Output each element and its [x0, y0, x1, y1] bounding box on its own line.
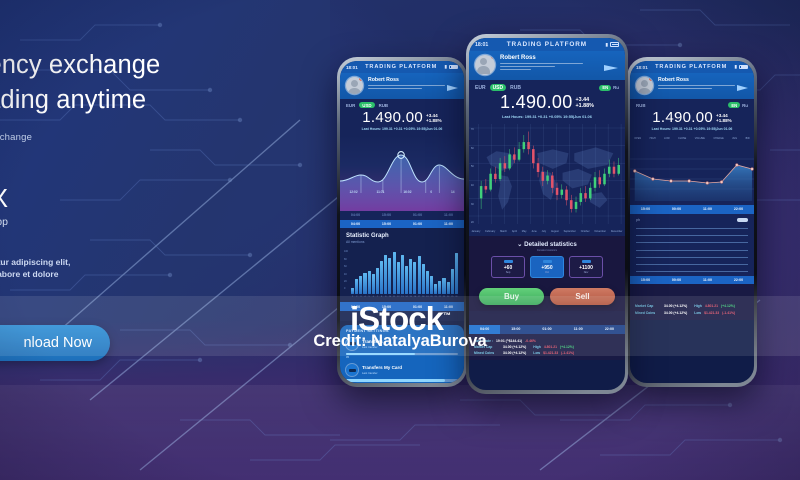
battery-icon [739, 65, 748, 70]
buy-button[interactable]: Buy [479, 288, 544, 305]
area-chart-top-label: HIGH [650, 137, 656, 140]
price-delta: +3.44 +1.88% [426, 113, 442, 123]
candle-x-label: December [611, 230, 623, 233]
detailed-statistics-cards: +60 Sep +950 Oct +1100 Nov [475, 256, 619, 279]
bar [434, 284, 437, 294]
panel-divider [636, 257, 748, 258]
area-chart-top-label: CLOSE [678, 137, 686, 140]
language-label: Ru [742, 103, 748, 108]
bar [418, 256, 421, 295]
bar-label: 8 [380, 296, 383, 298]
avatar[interactable] [636, 77, 653, 94]
row-value: 34.00 (+4.12%) [503, 345, 526, 349]
area-chart-top-label: LOW [664, 137, 669, 140]
app-title: TRADING PLATFORM [655, 64, 727, 70]
row-change: (+4.12%) [721, 304, 735, 308]
delta-percent: +1.88% [716, 118, 732, 123]
candle-x-label: July [542, 230, 546, 233]
card-icon [346, 338, 358, 350]
profile-skeleton-bars [658, 85, 748, 89]
user-name: Robert Ross [658, 77, 748, 83]
area-chart-top-label: VOLUME [695, 137, 705, 140]
row-key: Mined Coins [474, 351, 500, 355]
time-tab[interactable]: 11:00 [692, 276, 723, 284]
bar [438, 281, 441, 295]
language-pill[interactable]: EN [599, 85, 611, 91]
bar [359, 276, 362, 294]
user-name: Robert Ross [500, 55, 619, 61]
payment-row-transfers[interactable]: Transfers Last transfer [346, 338, 458, 350]
phone-center-screen[interactable]: 18:01 TRADING PLATFORM ▮ Robert Ross [469, 38, 625, 390]
bar-chart-x-axis: 1234567891011121314151617181920212223242… [351, 296, 458, 298]
currency-rub[interactable]: RUB [510, 85, 521, 91]
promo-lorem-line1: , consectetur adipiscing elit, [0, 256, 256, 268]
bar-label: 24 [447, 296, 450, 298]
bar-label: 18 [422, 296, 425, 298]
chevron-down-icon: ⌄ [517, 241, 522, 248]
bar-label: 5 [368, 296, 371, 298]
time-tab[interactable]: 11:00 [692, 205, 723, 213]
time-tab[interactable]: 04:00 [340, 302, 371, 310]
bar-label: 6 [372, 296, 375, 298]
wave-tick-labels: 12:02 11:71 16:02 0 14 [340, 190, 464, 194]
area-chart-top-labels: OPENHIGHLOWCLOSEVOLUMECHANGEAVGBID [630, 137, 754, 140]
currency-eur[interactable]: EUR [346, 103, 355, 108]
wave-tick: 14 [451, 190, 455, 194]
row-key2: Low [694, 311, 701, 315]
promo-copy: urrency exchange , trading anytime ons f… [0, 50, 256, 280]
time-tab[interactable]: 15:00 [630, 276, 661, 284]
promo-uiux-title: I/UX [0, 183, 256, 214]
candle-x-label: April [512, 230, 517, 233]
row-value2: 4.801.21 [544, 345, 557, 349]
candle-x-label: June [531, 230, 536, 233]
table-row: Market Cap 34.00 (+4.12%) High 4.801.21 … [635, 304, 749, 308]
table-row: Mined Coins 34.00 (+4.12%) Low $1.421.33… [474, 351, 620, 355]
card-icon [346, 364, 358, 376]
battery-icon [610, 42, 619, 47]
notification-dot-icon [649, 77, 653, 81]
status-bar: 18:01 TRADING PLATFORM ▮ [469, 38, 625, 51]
last-hours-text: Last Hours: 199.31 +0.31 +0.05% 19:55|Ju… [475, 114, 619, 119]
phone-right-screen[interactable]: 18:01 TRADING PLATFORM ▮ Robert Ross [630, 61, 754, 383]
notification-dot-icon [491, 55, 495, 59]
bar [376, 268, 379, 295]
stat-card-chip-icon [504, 260, 513, 263]
poster-canvas: urrency exchange , trading anytime ons f… [0, 0, 800, 480]
wave-tick: 0 [430, 190, 432, 194]
bar-label: 25 [451, 296, 454, 298]
currency-usd[interactable]: USD [490, 84, 507, 91]
bar [430, 276, 433, 294]
candle-x-label: May [522, 230, 527, 233]
row-value: 34.00 (+4.12%) [664, 304, 687, 308]
stats-table: Market Cap 34.00 (+4.12%) High 4.801.21 … [630, 284, 754, 319]
time-tab[interactable]: 01:00 [402, 220, 433, 228]
last-hours-text: Last Hours: 199.31 +0.31 +0.05% 19:55|Ju… [346, 127, 458, 131]
bar-label: 16 [413, 296, 416, 298]
user-name: Robert Ross [368, 77, 458, 83]
time-label: 11:00 [433, 211, 464, 219]
stat-card-chip-icon [582, 260, 591, 263]
bar-label: 12 [397, 296, 400, 298]
bar-label: 13 [401, 296, 404, 298]
time-tab[interactable]: 11:00 [563, 325, 594, 333]
wave-tick: 11:71 [376, 190, 384, 194]
time-tab[interactable]: 01:00 [531, 325, 562, 333]
stat-card-sep[interactable]: +60 Sep [491, 256, 525, 279]
promo-subline: ons for exchange [0, 132, 256, 143]
bar-chart-bars [351, 248, 458, 294]
bar-label: 17 [418, 296, 421, 298]
payment-sublabel: Last transfer [362, 345, 458, 349]
payment-label: Transfers [362, 339, 458, 344]
profile-header[interactable]: Robert Ross [469, 51, 625, 80]
bar-chart-y-axis: 100806040200 [344, 250, 348, 290]
payment-settings-title: PAYMENT SETTINGS [346, 329, 458, 333]
bar-label: 11 [393, 296, 396, 298]
payment-settings-panel: PAYMENT SETTINGS Transfers Last transfer… [340, 325, 464, 383]
status-bar: 18:01 TRADING PLATFORM ▮ [630, 61, 754, 73]
time-label: 04:00 [340, 211, 371, 219]
detailed-statistics-title: ⌄ Detailed statistics [475, 241, 619, 248]
candlestick-svg [469, 124, 625, 236]
row-value2: 4.801.21 [705, 304, 718, 308]
bar [363, 273, 366, 295]
wave-tick: 16:02 [403, 190, 411, 194]
trade-actions: Buy Sell [469, 284, 625, 311]
promo-headline: urrency exchange , trading anytime [0, 50, 256, 116]
time-strip[interactable]: 04:00 15:00 01:00 11:00 22:00 [469, 325, 625, 333]
bar [380, 261, 383, 294]
status-time: 18:01 [475, 42, 488, 48]
signal-icon: ▮ [444, 64, 447, 70]
candle-y-label: 20 [471, 221, 474, 224]
signal-icon: ▮ [605, 42, 608, 48]
wave-chart[interactable]: 12:02 11:71 16:02 0 14 [340, 135, 464, 211]
currency-selector[interactable]: EUR USD RUB [340, 99, 464, 108]
candle-y-label: 70 [471, 128, 474, 131]
promo-headline-line2: , trading anytime [0, 85, 256, 116]
row-value: 19:01 (^$144.41) [496, 339, 522, 343]
candle-x-label: September [564, 230, 576, 233]
candle-x-label: March [500, 230, 507, 233]
time-tab[interactable]: 22:00 [723, 205, 754, 213]
detailed-title-text: Detailed statistics [524, 241, 577, 248]
row-key: Last Trade : [474, 339, 493, 343]
area-chart-svg [630, 135, 754, 205]
panel-divider [636, 264, 748, 265]
time-tab[interactable]: 00:00 [661, 276, 692, 284]
price-panel: 1.490.00 +3.44 +1.88% Last Hours: 199.31… [469, 91, 625, 124]
time-strip[interactable]: 15:00 00:00 11:00 22:00 [630, 205, 754, 213]
bar [409, 259, 412, 295]
row-change: -0.46% [525, 339, 536, 343]
graph-panel-label: ph [636, 218, 640, 222]
send-plane-icon[interactable] [604, 65, 618, 71]
app-title: TRADING PLATFORM [507, 41, 587, 48]
promo-lorem: , consectetur adipiscing elit, didunt ut… [0, 256, 256, 280]
bar-label: 15 [409, 296, 412, 298]
time-label: 15:00 [371, 211, 402, 219]
row-change: (-1.41%) [722, 311, 735, 315]
price-value: 1.490.00 [362, 109, 423, 126]
stat-card-value: +60 [494, 265, 522, 271]
stat-card-month: Nov [572, 271, 600, 274]
profile-skeleton-bars [500, 63, 619, 70]
bar [442, 278, 445, 295]
send-plane-icon[interactable] [447, 85, 458, 91]
area-chart-top-label: CHANGE [713, 137, 723, 140]
phone-left-screen[interactable]: 18:01 TRADING PLATFORM ▮ Robert Ross [340, 61, 464, 383]
graph-panel: ph [630, 214, 754, 276]
bar [388, 258, 391, 295]
panel-divider [636, 271, 748, 272]
bar-label: 1 [351, 296, 354, 298]
stat-card-value: +950 [533, 265, 561, 271]
panel-divider [636, 235, 748, 236]
stat-card-chip-icon [543, 260, 552, 263]
currency-selector[interactable]: EUR USD RUB EN Ru [469, 80, 625, 91]
status-icons: ▮ [605, 42, 619, 48]
area-chart-top-label: AVG [732, 137, 737, 140]
bar [451, 269, 454, 295]
row-key: Market Cap [635, 304, 661, 308]
candle-y-label: 50 [471, 165, 474, 168]
bar [393, 252, 396, 294]
bar-label: 22 [438, 296, 441, 298]
area-chart-top-label: BID [746, 137, 750, 140]
row-value2: $1.421.33 [704, 311, 719, 315]
time-tab[interactable]: 15:00 [630, 205, 661, 213]
bar [413, 262, 416, 294]
row-change: (+4.12%) [560, 345, 574, 349]
time-tab[interactable]: 04:00 [469, 325, 500, 333]
panel-divider [636, 250, 748, 251]
time-tab[interactable]: 01:00 [402, 302, 433, 310]
bar-label: 4 [363, 296, 366, 298]
area-chart[interactable]: OPENHIGHLOWCLOSEVOLUMECHANGEAVGBID [630, 135, 754, 205]
bar-label: 21 [434, 296, 437, 298]
payment-row-transfers-my-card[interactable]: Transfers My Card Last transfer [346, 364, 458, 376]
bar-label: 14 [405, 296, 408, 298]
currency-selector[interactable]: RUB EN Ru [630, 99, 754, 108]
stat-card-value: +1100 [572, 265, 600, 271]
status-icons: ▮ [444, 64, 458, 70]
table-row: Market Cap 34.00 (+4.12%) High 4.801.21 … [474, 345, 620, 349]
bar [401, 255, 404, 295]
phone-left: 18:01 TRADING PLATFORM ▮ Robert Ross [337, 57, 467, 387]
currency-eur[interactable]: EUR [475, 85, 486, 91]
status-time: 18:01 [346, 65, 358, 70]
time-strip-lower[interactable]: 04:00 15:00 01:00 11:00 [340, 302, 464, 310]
promo-uiux-subtitle: Mobile App [0, 216, 256, 228]
profile-header[interactable]: Robert Ross [340, 73, 464, 99]
avatar[interactable] [475, 55, 495, 75]
row-change: (-1.41%) [561, 351, 574, 355]
bar [355, 279, 358, 295]
send-plane-icon[interactable] [737, 85, 748, 91]
candle-x-label: February [485, 230, 495, 233]
payment-slider-value: 45 [346, 356, 458, 359]
bar-label: 2 [355, 296, 358, 298]
bar [384, 255, 387, 295]
row-key: Market Cap [474, 345, 500, 349]
bar-label: 20 [430, 296, 433, 298]
panel-divider [636, 242, 748, 243]
area-chart-top-label: OPEN [634, 137, 641, 140]
delta-percent: +1.88% [426, 118, 442, 123]
bar [368, 271, 371, 295]
time-tab[interactable]: 15:00 [371, 220, 402, 228]
stat-card-month: Sep [494, 271, 522, 274]
phone-center: 18:01 TRADING PLATFORM ▮ Robert Ross [466, 34, 628, 394]
payment-label: Transfers My Card [362, 365, 458, 370]
bar [422, 264, 425, 294]
row-key2: Low [533, 351, 540, 355]
currency-rub[interactable]: RUB [636, 103, 646, 108]
stat-card-nov[interactable]: +1100 Nov [569, 256, 603, 279]
price-panel: 1.490.00 +3.44 +1.88% Last Hours: 199.31… [340, 108, 464, 135]
time-tab[interactable]: 22:00 [594, 325, 625, 333]
statistic-bar-chart[interactable]: 100806040200 123456789101112131415161718… [340, 244, 464, 302]
statistic-graph-title: Statistic Graph [346, 233, 458, 239]
time-strip[interactable]: 04:00 15:00 01:00 11:00 [340, 220, 464, 228]
time-strip-dim: 04:00 15:00 01:00 11:00 [340, 211, 464, 219]
stat-card-oct[interactable]: +950 Oct [530, 256, 564, 279]
time-strip-lower[interactable]: 15:00 00:00 11:00 22:00 [630, 276, 754, 284]
bar [351, 288, 354, 294]
candle-x-label: August [551, 230, 559, 233]
payment-slider-transfers[interactable] [346, 353, 458, 355]
stat-card-month: Oct [533, 271, 561, 274]
signal-icon: ▮ [734, 64, 737, 70]
candle-y-label: 40 [471, 184, 474, 187]
candle-y-label: 60 [471, 147, 474, 150]
status-icons: ▮ [734, 64, 748, 70]
last-hours-text: Last Hours: 199.31 +0.31 +0.05% 19:55|Ju… [636, 127, 748, 131]
row-value: 34.00 (+4.12%) [503, 351, 526, 355]
notification-dot-icon [359, 77, 363, 81]
price-value: 1.490.00 [652, 109, 713, 126]
stats-table: Last Trade : 19:01 (^$144.41) -0.46% Mar… [469, 334, 625, 361]
profile-header[interactable]: Robert Ross [630, 73, 754, 99]
bar-label: 23 [442, 296, 445, 298]
time-tab[interactable]: 22:00 [723, 276, 754, 284]
detailed-statistics-section: ⌄ Detailed statistics Detailed statistic… [469, 236, 625, 284]
promo-headline-line1: urrency exchange [0, 51, 160, 79]
row-key2: High [694, 304, 702, 308]
graph-panel-toggle[interactable] [737, 218, 748, 222]
time-tab[interactable]: 15:00 [371, 302, 402, 310]
detailed-statistics-subtitle: Detailed statistics [475, 249, 619, 252]
wave-chart-svg [340, 135, 464, 211]
status-bar: 18:01 TRADING PLATFORM ▮ [340, 61, 464, 73]
bar-label: 19 [426, 296, 429, 298]
app-title: TRADING PLATFORM [365, 64, 437, 70]
battery-icon [449, 65, 458, 70]
promo-lorem-line2: didunt ut labore et dolore [0, 268, 256, 280]
delta-percent: +1.88% [576, 103, 594, 109]
bar [447, 282, 450, 295]
bar [455, 253, 458, 294]
currency-rub[interactable]: RUB [379, 103, 389, 108]
price-value: 1.490.00 [500, 92, 572, 113]
price-panel: 1.490.00 +3.44 +1.88% Last Hours: 199.31… [630, 108, 754, 135]
bar [372, 274, 375, 294]
phone-right: 18:01 TRADING PLATFORM ▮ Robert Ross [627, 57, 757, 387]
time-label: 01:00 [402, 211, 433, 219]
language-selector[interactable]: EN Ru [599, 85, 619, 91]
row-key: Mined Coins [635, 311, 661, 315]
table-row: Mined Coins 34.00 (+4.12%) Low $1.421.33… [635, 311, 749, 315]
profile-skeleton-bars [368, 85, 458, 89]
candle-y-label: 30 [471, 203, 474, 206]
row-value: 34.00 (+4.12%) [664, 311, 687, 315]
avatar[interactable] [346, 77, 363, 94]
time-tab[interactable]: 11:00 [433, 220, 464, 228]
bar-label: 3 [359, 296, 362, 298]
payment-slider-my-card[interactable] [346, 379, 458, 381]
bar [397, 262, 400, 294]
language-label: Ru [613, 85, 619, 90]
status-time: 18:01 [636, 65, 648, 70]
candlestick-chart[interactable]: 706050403020 JanuaryFebruaryMarchAprilMa… [469, 124, 625, 236]
row-value2: $1.421.33 [543, 351, 558, 355]
candle-x-label: November [594, 230, 606, 233]
time-tab[interactable]: 00:00 [661, 205, 692, 213]
sell-button[interactable]: Sell [550, 288, 615, 305]
bar [426, 271, 429, 295]
download-now-button[interactable]: nload Now [0, 325, 110, 361]
bar-label: 9 [384, 296, 387, 298]
price-delta: +3.44 +1.88% [716, 113, 732, 123]
candle-x-label: January [471, 230, 480, 233]
wave-tick: 12:02 [349, 190, 357, 194]
payment-sublabel: Last transfer [362, 371, 458, 375]
bar-label: 7 [376, 296, 379, 298]
time-tab[interactable]: 15:00 [500, 325, 531, 333]
time-tab[interactable]: 04:00 [340, 220, 371, 228]
candle-x-label: October [581, 230, 590, 233]
table-row: Last Trade : 19:01 (^$144.41) -0.46% [474, 339, 620, 343]
statistic-graph-header: Statistic Graph All mentions [340, 228, 464, 245]
row-key2: High [533, 345, 541, 349]
bar-label: 10 [388, 296, 391, 298]
price-delta: +3.44 +1.88% [576, 97, 594, 109]
bar-label: 26 [455, 296, 458, 298]
candle-y-labels: 706050403020 [471, 128, 474, 224]
candle-x-labels: JanuaryFebruaryMarchAprilMayJuneJulyAugu… [469, 230, 625, 233]
panel-divider [636, 228, 748, 229]
time-tab[interactable]: 11:00 [433, 302, 464, 310]
bar [405, 266, 408, 295]
